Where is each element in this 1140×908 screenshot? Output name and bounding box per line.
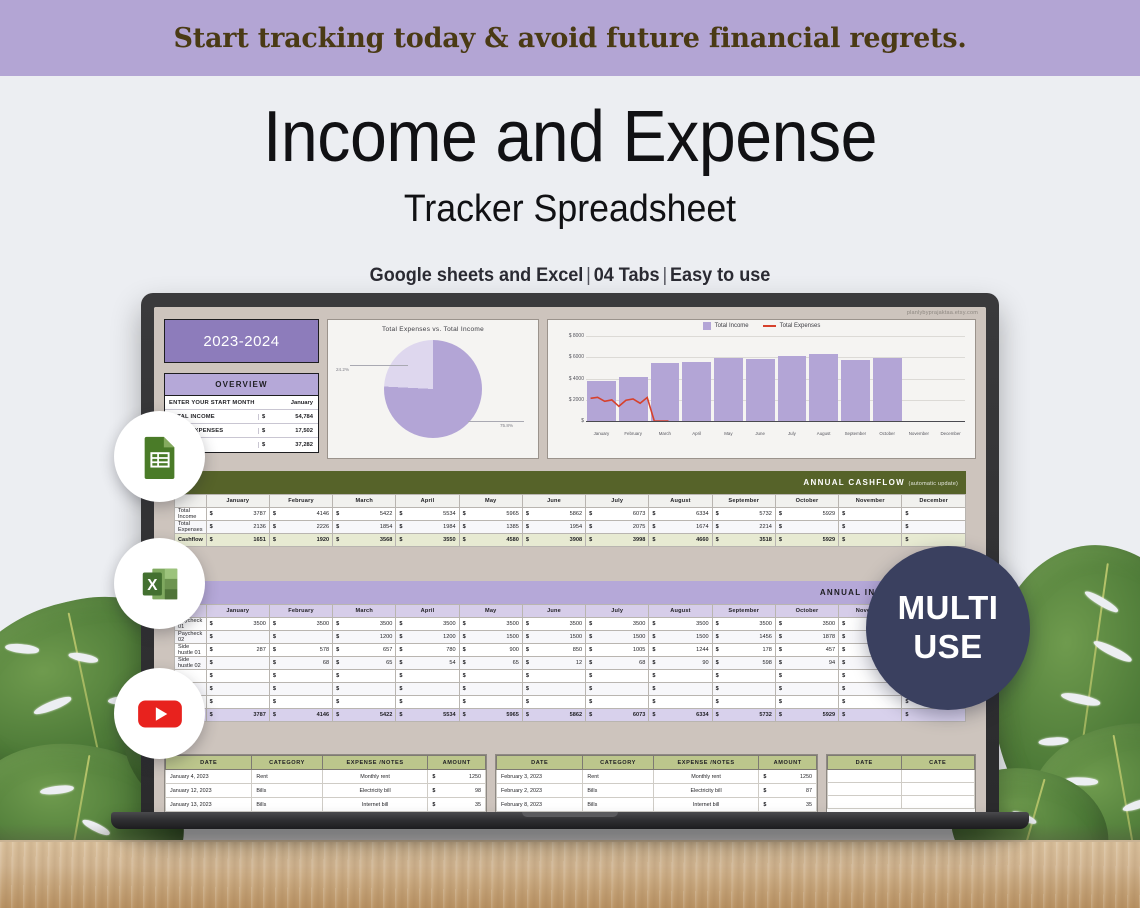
column-header: June xyxy=(522,605,585,618)
table-cell[interactable] xyxy=(870,508,902,521)
expense-category[interactable]: Rent xyxy=(252,770,322,784)
table-cell[interactable]: 178 xyxy=(744,644,776,657)
table-cell[interactable]: 3500 xyxy=(744,618,776,631)
table-cell[interactable]: 3787 xyxy=(238,709,270,722)
currency-symbol: $ xyxy=(206,657,238,670)
table-cell[interactable] xyxy=(301,696,333,709)
table-cell[interactable]: 3500 xyxy=(491,618,523,631)
expense-log-february[interactable]: DATECATEGORYEXPENSE /NOTESAMOUNTFebruary… xyxy=(495,754,818,813)
table-cell[interactable]: 2136 xyxy=(238,521,270,534)
expense-note[interactable]: Internet bill xyxy=(322,798,428,812)
table-row[interactable]: Total Income$3787$4146$5422$5534$5965$58… xyxy=(175,508,966,521)
table-cell[interactable]: 12 xyxy=(554,657,586,670)
currency-symbol: $ xyxy=(839,670,871,683)
table-cell[interactable] xyxy=(238,631,270,644)
table-row[interactable] xyxy=(828,783,975,796)
excel-icon: X xyxy=(137,561,183,607)
table-cell[interactable] xyxy=(681,683,713,696)
table-cell[interactable]: 6073 xyxy=(617,508,649,521)
currency-symbol: $ xyxy=(839,644,871,657)
annual-income-heading: ANNUAL INCOME (enter your details) xyxy=(174,581,966,604)
table-cell[interactable]: 1878 xyxy=(807,631,839,644)
currency-symbol: $ xyxy=(775,618,807,631)
currency-symbol: $ xyxy=(459,618,491,631)
table-cell[interactable] xyxy=(807,670,839,683)
expense-date[interactable]: January 13, 2023 xyxy=(166,798,252,812)
table-cell[interactable]: 5534 xyxy=(428,508,460,521)
currency-symbol: $ xyxy=(522,696,554,709)
bar xyxy=(873,358,902,421)
currency-symbol: $ xyxy=(649,631,681,644)
laptop-screen: planlybyprajaktaa.etsy.com 2023-2024 OVE… xyxy=(154,307,986,813)
table-cell[interactable]: 2214 xyxy=(744,521,776,534)
table-cell[interactable] xyxy=(238,696,270,709)
table-cell[interactable] xyxy=(807,696,839,709)
column-header: August xyxy=(649,495,712,508)
currency-symbol: $ xyxy=(396,657,428,670)
currency-symbol: $ xyxy=(206,521,238,534)
column-header: April xyxy=(396,605,459,618)
column-header: DATE xyxy=(497,756,583,770)
table-row[interactable]: January 4, 2023RentMonthly rent$1250 xyxy=(166,770,486,784)
expense-note[interactable]: Electricity bill xyxy=(653,784,759,798)
table-cell[interactable] xyxy=(934,521,966,534)
hero-section: Income and Expense Tracker Spreadsheet G… xyxy=(0,76,1140,287)
currency-symbol: $ xyxy=(333,508,365,521)
table-cell[interactable] xyxy=(744,696,776,709)
table-cell[interactable]: 3518 xyxy=(744,534,776,547)
currency-symbol: $ xyxy=(775,508,807,521)
expense-category[interactable] xyxy=(901,796,975,809)
overview-row[interactable]: ENTER YOUR START MONTH January xyxy=(165,396,318,410)
column-header: March xyxy=(333,605,396,618)
expense-date[interactable]: February 3, 2023 xyxy=(497,770,583,784)
table-cell[interactable]: 1954 xyxy=(554,521,586,534)
x-axis-tick: July xyxy=(778,431,807,436)
table-cell[interactable] xyxy=(554,683,586,696)
table-cell[interactable] xyxy=(554,696,586,709)
currency-symbol: $ xyxy=(712,696,744,709)
table-cell[interactable] xyxy=(364,670,396,683)
currency-symbol: $ xyxy=(206,670,238,683)
table-cell[interactable] xyxy=(617,683,649,696)
currency-symbol: $ xyxy=(586,521,618,534)
table-cell[interactable]: 3500 xyxy=(554,618,586,631)
expense-date[interactable]: February 8, 2023 xyxy=(497,798,583,812)
x-axis-tick: November xyxy=(905,431,934,436)
table-cell[interactable]: 5422 xyxy=(364,508,396,521)
currency-symbol: $ xyxy=(712,683,744,696)
table-cell[interactable]: 1244 xyxy=(681,644,713,657)
table-cell[interactable]: 1200 xyxy=(364,631,396,644)
row-label: Total Income xyxy=(175,508,207,521)
table-cell[interactable] xyxy=(934,534,966,547)
table-cell[interactable]: 94 xyxy=(807,657,839,670)
table-cell[interactable]: 3500 xyxy=(681,618,713,631)
table-cell[interactable]: 5965 xyxy=(491,709,523,722)
column-header: December xyxy=(902,495,966,508)
currency-symbol: $ xyxy=(586,631,618,644)
table-cell[interactable]: 1385 xyxy=(491,521,523,534)
expense-note[interactable]: Monthly rent xyxy=(322,770,428,784)
currency-symbol: $ xyxy=(712,709,744,722)
table-cell[interactable]: 3500 xyxy=(617,618,649,631)
table-row[interactable]: $$$$$$$$$$$$ xyxy=(175,683,966,696)
legend-swatch-icon xyxy=(703,322,711,330)
table-cell[interactable] xyxy=(870,534,902,547)
currency-symbol: $ xyxy=(649,508,681,521)
table-cell[interactable]: 3500 xyxy=(807,618,839,631)
table-cell[interactable]: 578 xyxy=(301,644,333,657)
currency-symbol: $ xyxy=(839,696,871,709)
table-cell[interactable]: 5862 xyxy=(554,508,586,521)
currency-symbol: $ xyxy=(269,618,301,631)
svg-text:X: X xyxy=(147,576,158,593)
currency-symbol: $ xyxy=(712,657,744,670)
table-cell[interactable]: 3998 xyxy=(617,534,649,547)
table-cell[interactable]: 5965 xyxy=(491,508,523,521)
currency-symbol: $ xyxy=(269,521,301,534)
table-cell[interactable]: 65 xyxy=(491,657,523,670)
expense-date[interactable]: February 2, 2023 xyxy=(497,784,583,798)
y-axis: $$ 2000$ 4000$ 6000$ 8000 xyxy=(556,336,586,422)
youtube-badge[interactable] xyxy=(114,668,205,759)
table-cell[interactable]: 3500 xyxy=(301,618,333,631)
x-axis-tick: August xyxy=(809,431,838,436)
expense-category[interactable]: Rent xyxy=(583,770,653,784)
table-cell[interactable]: 2075 xyxy=(617,521,649,534)
y-axis-tick: $ 4000 xyxy=(569,376,584,382)
expense-note[interactable]: Internet bill xyxy=(653,798,759,812)
annual-cashflow-section: ANNUAL CASHFLOW (automatic update) Janua… xyxy=(174,471,966,547)
table-row[interactable]: Side hustle 02$$68$65$54$65$12$68$90$598… xyxy=(175,657,966,670)
expense-amount[interactable]: 1250 xyxy=(437,770,485,783)
table-cell[interactable]: 6073 xyxy=(617,709,649,722)
expense-amount[interactable]: 1250 xyxy=(768,770,816,783)
expense-date[interactable]: January 4, 2023 xyxy=(166,770,252,784)
currency-symbol: $ xyxy=(902,709,934,722)
currency-symbol: $ xyxy=(206,508,238,521)
table-cell[interactable]: 3500 xyxy=(238,618,270,631)
laptop-lid: planlybyprajaktaa.etsy.com 2023-2024 OVE… xyxy=(141,293,999,829)
table-cell[interactable] xyxy=(491,670,523,683)
table-cell[interactable]: 5732 xyxy=(744,508,776,521)
table-cell[interactable]: 657 xyxy=(364,644,396,657)
column-header: February xyxy=(269,605,332,618)
currency-symbol: $ xyxy=(775,644,807,657)
overview-currency: $ xyxy=(258,428,272,434)
table-cell[interactable]: 287 xyxy=(238,644,270,657)
multi-use-badge: MULTI USE xyxy=(866,546,1030,710)
currency-symbol: $ xyxy=(333,670,365,683)
table-cell[interactable]: 1984 xyxy=(428,521,460,534)
overview-value[interactable]: January xyxy=(272,400,318,406)
legend-line-icon xyxy=(763,325,776,327)
table-cell[interactable] xyxy=(617,696,649,709)
currency-symbol: $ xyxy=(396,670,428,683)
table-cell[interactable]: 4146 xyxy=(301,709,333,722)
table-cell[interactable] xyxy=(428,696,460,709)
column-header: May xyxy=(459,495,522,508)
table-cell[interactable]: 1854 xyxy=(364,521,396,534)
currency-symbol: $ xyxy=(712,644,744,657)
table-cell[interactable] xyxy=(681,696,713,709)
currency-symbol: $ xyxy=(333,521,365,534)
currency-symbol: $ xyxy=(333,696,365,709)
currency-symbol: $ xyxy=(522,631,554,644)
expense-category[interactable] xyxy=(901,770,975,783)
currency-symbol: $ xyxy=(269,644,301,657)
expense-note[interactable]: Monthly rent xyxy=(653,770,759,784)
table-row[interactable]: January 12, 2023BillsElectricity bill$98 xyxy=(166,784,486,798)
annual-income-table[interactable]: JanuaryFebruaryMarchAprilMayJuneJulyAugu… xyxy=(174,604,966,722)
table-cell[interactable]: 2226 xyxy=(301,521,333,534)
google-sheets-badge[interactable] xyxy=(114,411,205,502)
column-header: AMOUNT xyxy=(428,756,486,770)
table-row[interactable]: Cashflow$1651$1920$3568$3550$4580$3908$3… xyxy=(175,534,966,547)
expense-note[interactable]: Electricity bill xyxy=(322,784,428,798)
table-row[interactable]: Paycheck 02$$$1200$1200$1500$1500$1500$1… xyxy=(175,631,966,644)
row-label: Side hustle 01 xyxy=(175,644,207,657)
legend-item-expenses: Total Expenses xyxy=(763,323,821,329)
table-row[interactable]: $$$$$$$$$$$$ xyxy=(175,696,966,709)
table-cell[interactable] xyxy=(301,670,333,683)
x-axis-tick: September xyxy=(841,431,870,436)
currency-symbol: $ xyxy=(269,696,301,709)
currency-symbol: $ xyxy=(428,798,437,811)
currency-symbol: $ xyxy=(586,696,618,709)
table-cell[interactable]: 1500 xyxy=(617,631,649,644)
currency-symbol: $ xyxy=(269,534,301,547)
table-cell[interactable]: 900 xyxy=(491,644,523,657)
table-cell[interactable]: 68 xyxy=(301,657,333,670)
table-cell[interactable] xyxy=(364,696,396,709)
dashboard-top-row: 2023-2024 OVERVIEW ENTER YOUR START MONT… xyxy=(164,319,976,459)
currency-symbol: $ xyxy=(396,534,428,547)
currency-symbol: $ xyxy=(712,670,744,683)
table-cell[interactable]: 3550 xyxy=(428,534,460,547)
legend-label: Total Expenses xyxy=(780,323,821,329)
currency-symbol: $ xyxy=(269,631,301,644)
table-cell[interactable] xyxy=(870,709,902,722)
table-cell[interactable]: 4660 xyxy=(681,534,713,547)
currency-symbol: $ xyxy=(775,657,807,670)
table-cell[interactable] xyxy=(617,670,649,683)
table-cell[interactable] xyxy=(870,521,902,534)
column-header: September xyxy=(712,495,775,508)
table-cell[interactable]: 1674 xyxy=(681,521,713,534)
table-row[interactable]: Side hustle 01$287$578$657$780$900$850$1… xyxy=(175,644,966,657)
table-cell[interactable] xyxy=(491,696,523,709)
banner-text: Start tracking today & avoid future fina… xyxy=(173,23,966,54)
multi-use-line-1: MULTI xyxy=(898,589,999,628)
pie-chart-title: Total Expenses vs. Total Income xyxy=(328,320,538,333)
overview-value: 17,502 xyxy=(272,428,318,434)
expense-category[interactable]: Bills xyxy=(583,798,653,812)
table-row[interactable]: $$$$$$$$$$$$ xyxy=(175,670,966,683)
table-cell[interactable] xyxy=(934,709,966,722)
legend-label: Total Income xyxy=(715,323,749,329)
table-cell[interactable] xyxy=(934,508,966,521)
table-cell[interactable]: 1920 xyxy=(301,534,333,547)
currency-symbol: $ xyxy=(333,709,365,722)
table-cell[interactable] xyxy=(428,683,460,696)
table-cell[interactable]: 5732 xyxy=(744,709,776,722)
expense-category[interactable]: Bills xyxy=(583,784,653,798)
table-cell[interactable]: 5929 xyxy=(807,508,839,521)
table-cell[interactable] xyxy=(744,683,776,696)
bar xyxy=(778,356,807,421)
table-cell[interactable]: 5534 xyxy=(428,709,460,722)
currency-symbol: $ xyxy=(775,683,807,696)
expense-category[interactable]: Bills xyxy=(252,798,322,812)
currency-symbol: $ xyxy=(775,534,807,547)
expense-date[interactable]: January 12, 2023 xyxy=(166,784,252,798)
table-row[interactable]: January 13, 2023BillsInternet bill$35 xyxy=(166,798,486,812)
currency-symbol: $ xyxy=(459,670,491,683)
table-cell[interactable]: 5929 xyxy=(807,709,839,722)
laptop-notch xyxy=(522,812,618,817)
spreadsheet-dashboard: planlybyprajaktaa.etsy.com 2023-2024 OVE… xyxy=(154,307,986,813)
column-header: August xyxy=(649,605,712,618)
table-cell[interactable]: 3500 xyxy=(364,618,396,631)
expense-log-march[interactable]: DATECATE xyxy=(826,754,976,813)
expense-amount[interactable]: 87 xyxy=(768,784,816,797)
table-cell[interactable]: 1651 xyxy=(238,534,270,547)
expense-date[interactable] xyxy=(828,783,902,796)
pie-leader-line xyxy=(350,365,408,366)
column-header: EXPENSE /NOTES xyxy=(322,756,428,770)
currency-symbol: $ xyxy=(206,683,238,696)
currency-symbol: $ xyxy=(269,709,301,722)
table-cell[interactable]: 780 xyxy=(428,644,460,657)
page-title: Income and Expense xyxy=(46,100,1095,176)
table-cell[interactable] xyxy=(428,670,460,683)
table-row[interactable] xyxy=(828,796,975,809)
expense-date[interactable] xyxy=(828,796,902,809)
overview-currency: $ xyxy=(258,442,272,448)
section-title: ANNUAL CASHFLOW xyxy=(803,478,905,487)
currency-symbol: $ xyxy=(459,657,491,670)
excel-badge[interactable]: X xyxy=(114,538,205,629)
table-row[interactable]: February 2, 2023BillsElectricity bill$87 xyxy=(497,784,817,798)
currency-symbol: $ xyxy=(459,508,491,521)
table-cell[interactable]: 1200 xyxy=(428,631,460,644)
expense-amount[interactable]: 35 xyxy=(437,798,485,811)
table-cell[interactable]: 3908 xyxy=(554,534,586,547)
table-cell[interactable]: 850 xyxy=(554,644,586,657)
table-cell[interactable] xyxy=(870,696,902,709)
bar xyxy=(809,354,838,421)
table-cell[interactable]: 65 xyxy=(364,657,396,670)
currency-symbol: $ xyxy=(522,618,554,631)
table-cell[interactable]: 90 xyxy=(681,657,713,670)
top-banner: Start tracking today & avoid future fina… xyxy=(0,0,1140,76)
currency-symbol: $ xyxy=(839,683,871,696)
table-row[interactable]: Paycheck 01$3500$3500$3500$3500$3500$350… xyxy=(175,618,966,631)
table-cell[interactable] xyxy=(364,683,396,696)
table-cell[interactable] xyxy=(744,670,776,683)
table-cell[interactable] xyxy=(238,670,270,683)
currency-symbol: $ xyxy=(586,534,618,547)
currency-symbol: $ xyxy=(759,770,768,783)
column-header: EXPENSE /NOTES xyxy=(653,756,759,770)
table-cell[interactable]: 3787 xyxy=(238,508,270,521)
currency-symbol: $ xyxy=(775,696,807,709)
table-cell[interactable]: 1500 xyxy=(681,631,713,644)
pie-slice-label-income: 75.8% xyxy=(500,423,513,428)
expense-category[interactable]: Bills xyxy=(252,784,322,798)
table-cell[interactable] xyxy=(491,683,523,696)
table-row[interactable]: February 3, 2023RentMonthly rent$1250 xyxy=(497,770,817,784)
column-header: July xyxy=(586,605,649,618)
table-cell[interactable]: 3500 xyxy=(428,618,460,631)
expense-amount[interactable]: 35 xyxy=(768,798,816,811)
currency-symbol: $ xyxy=(333,657,365,670)
table-cell[interactable] xyxy=(554,670,586,683)
table-cell[interactable]: 457 xyxy=(807,644,839,657)
table-cell[interactable]: 68 xyxy=(617,657,649,670)
meta-tabs: 04 Tabs xyxy=(594,265,660,286)
expense-date[interactable] xyxy=(828,770,902,783)
table-cell[interactable] xyxy=(301,631,333,644)
table-cell[interactable] xyxy=(807,521,839,534)
table-cell[interactable] xyxy=(681,670,713,683)
table-cell[interactable]: 3568 xyxy=(364,534,396,547)
currency-symbol: $ xyxy=(396,709,428,722)
table-cell[interactable]: 5862 xyxy=(554,709,586,722)
laptop-base xyxy=(111,812,1029,829)
table-cell[interactable]: 598 xyxy=(744,657,776,670)
table-row[interactable]: Total$3787$4146$5422$5534$5965$5862$6073… xyxy=(175,709,966,722)
table-cell[interactable] xyxy=(238,657,270,670)
table-cell[interactable]: 5422 xyxy=(364,709,396,722)
currency-symbol: $ xyxy=(522,644,554,657)
wooden-table-surface xyxy=(0,840,1140,908)
currency-symbol: $ xyxy=(459,644,491,657)
table-cell[interactable]: 4580 xyxy=(491,534,523,547)
table-cell[interactable]: 1500 xyxy=(554,631,586,644)
currency-symbol: $ xyxy=(459,683,491,696)
currency-symbol: $ xyxy=(459,696,491,709)
y-axis-tick: $ xyxy=(581,418,584,424)
table-cell[interactable]: 54 xyxy=(428,657,460,670)
expense-log-january[interactable]: DATECATEGORYEXPENSE /NOTESAMOUNTJanuary … xyxy=(164,754,487,813)
expense-category[interactable] xyxy=(901,783,975,796)
currency-symbol: $ xyxy=(206,696,238,709)
table-row[interactable]: February 8, 2023BillsInternet bill$35 xyxy=(497,798,817,812)
expense-line-series xyxy=(587,336,672,421)
table-cell[interactable]: 1456 xyxy=(744,631,776,644)
currency-symbol: $ xyxy=(902,508,934,521)
annual-cashflow-table[interactable]: JanuaryFebruaryMarchAprilMayJuneJulyAugu… xyxy=(174,494,966,547)
table-cell[interactable]: 1500 xyxy=(491,631,523,644)
table-cell[interactable]: 5929 xyxy=(807,534,839,547)
table-cell[interactable]: 4146 xyxy=(301,508,333,521)
currency-symbol: $ xyxy=(396,696,428,709)
table-cell[interactable]: 1005 xyxy=(617,644,649,657)
table-cell[interactable] xyxy=(238,683,270,696)
expense-amount[interactable]: 98 xyxy=(437,784,485,797)
table-cell[interactable] xyxy=(807,683,839,696)
table-cell[interactable] xyxy=(301,683,333,696)
table-cell[interactable]: 6334 xyxy=(681,508,713,521)
watermark: planlybyprajaktaa.etsy.com xyxy=(907,310,978,316)
table-row[interactable] xyxy=(828,770,975,783)
table-cell[interactable]: 6334 xyxy=(681,709,713,722)
table-row[interactable]: Total Expenses$2136$2226$1854$1984$1385$… xyxy=(175,521,966,534)
column-header: CATE xyxy=(901,756,975,770)
